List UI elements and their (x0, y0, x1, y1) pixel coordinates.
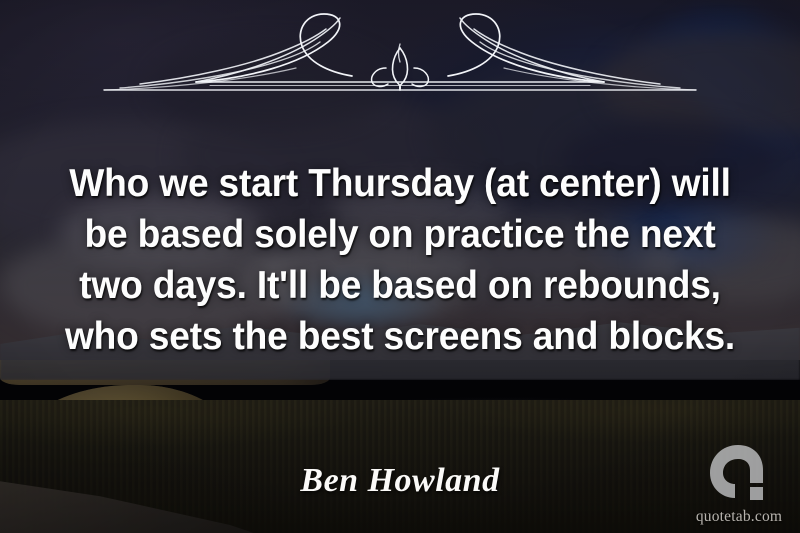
watermark-site-label[interactable]: quotetab.com (686, 508, 792, 526)
quotetab-q-logo-icon[interactable] (708, 443, 774, 505)
flourish-divider-icon (100, 4, 700, 99)
card-content: Who we start Thursday (at center) will b… (0, 0, 800, 533)
quote-image-card: Who we start Thursday (at center) will b… (0, 0, 800, 533)
quote-text: Who we start Thursday (at center) will b… (58, 158, 741, 362)
quote-author: Ben Howland (0, 461, 800, 501)
watermark[interactable]: quotetab.com (686, 443, 792, 529)
